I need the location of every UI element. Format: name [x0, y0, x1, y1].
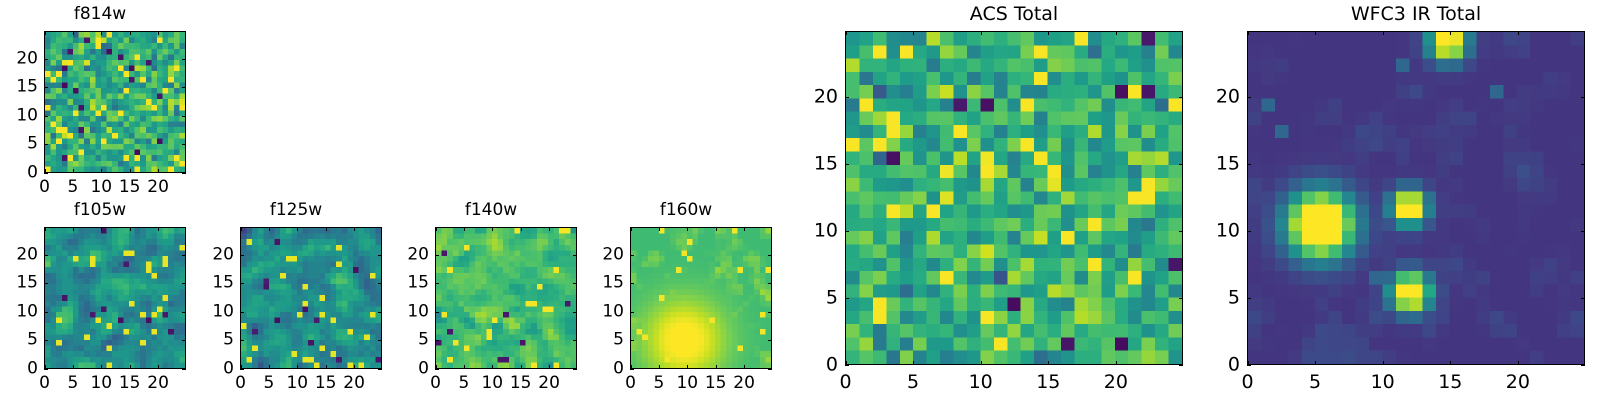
y-tick-mark-right: [1581, 231, 1585, 232]
x-tick-label: 20: [538, 375, 560, 392]
panel-wfc3-ir-total: WFC3 IR Total 0510152005101520: [1190, 0, 1600, 400]
x-tick-mark-top: [101, 31, 102, 35]
x-tick-mark: [716, 365, 717, 369]
x-tick-label: 15: [1036, 373, 1060, 392]
x-tick-mark: [297, 365, 298, 369]
y-tick-label: 20: [8, 50, 38, 67]
x-tick-label: 0: [839, 373, 851, 392]
x-tick-label: 10: [481, 375, 503, 392]
y-tick-label: 5: [8, 136, 38, 153]
figure-canvas: f814w 0510152005101520 f105w 05101520051…: [0, 0, 1600, 400]
x-tick-label: 20: [1104, 373, 1128, 392]
x-tick-mark-top: [492, 227, 493, 231]
y-tick-label: 0: [399, 360, 429, 377]
y-tick-mark-right: [1581, 298, 1585, 299]
x-tick-label: 20: [147, 179, 169, 196]
heatmap-f125w: [241, 228, 381, 368]
x-tick-mark: [130, 169, 131, 173]
x-tick-mark-top: [1383, 31, 1384, 35]
panel-f140w: f140w 0510152005101520: [391, 196, 591, 391]
y-tick-mark: [630, 255, 634, 256]
x-tick-label: 5: [1309, 373, 1321, 392]
x-tick-mark-top: [354, 227, 355, 231]
x-tick-mark-top: [1116, 31, 1117, 35]
x-tick-label: 5: [458, 375, 469, 392]
x-tick-label: 0: [1241, 373, 1253, 392]
y-tick-label: 10: [399, 303, 429, 320]
x-tick-mark-top: [549, 227, 550, 231]
y-tick-mark: [44, 87, 48, 88]
heatmap-wfc3-ir-total: [1248, 32, 1584, 364]
y-tick-mark: [845, 298, 849, 299]
y-tick-mark: [435, 369, 439, 370]
x-tick-label: 5: [263, 375, 274, 392]
x-tick-mark-top: [101, 227, 102, 231]
y-tick-label: 10: [594, 303, 624, 320]
y-tick-mark-right: [378, 369, 382, 370]
y-tick-label: 5: [1210, 288, 1240, 307]
panel-title-wfc3-ir-total: WFC3 IR Total: [1247, 5, 1585, 24]
y-tick-label: 0: [8, 360, 38, 377]
x-tick-mark-top: [716, 227, 717, 231]
x-tick-mark-top: [846, 31, 847, 35]
x-tick-mark: [492, 365, 493, 369]
y-tick-label: 20: [594, 246, 624, 263]
axes-wfc3-ir-total: [1247, 31, 1585, 365]
y-tick-mark-right: [573, 369, 577, 370]
panel-title-f105w: f105w: [0, 202, 200, 219]
x-tick-label: 5: [907, 373, 919, 392]
y-tick-mark: [44, 312, 48, 313]
x-tick-label: 0: [430, 375, 441, 392]
x-tick-label: 0: [625, 375, 636, 392]
y-tick-label: 20: [1210, 88, 1240, 107]
y-tick-mark: [630, 283, 634, 284]
x-tick-mark-top: [130, 31, 131, 35]
x-tick-label: 15: [1438, 373, 1462, 392]
heatmap-f105w: [45, 228, 185, 368]
y-tick-label: 15: [8, 79, 38, 96]
panel-f814w: f814w 0510152005101520: [0, 0, 200, 195]
y-tick-mark-right: [1179, 97, 1183, 98]
y-tick-mark: [44, 173, 48, 174]
x-tick-mark: [158, 365, 159, 369]
x-tick-mark: [354, 365, 355, 369]
y-tick-mark-right: [768, 369, 772, 370]
y-tick-label: 15: [204, 275, 234, 292]
y-tick-mark-right: [182, 144, 186, 145]
x-tick-mark: [73, 169, 74, 173]
x-tick-mark: [913, 361, 914, 365]
y-tick-label: 20: [204, 246, 234, 263]
x-tick-mark-top: [241, 227, 242, 231]
x-tick-label: 10: [90, 179, 112, 196]
y-tick-mark-right: [182, 312, 186, 313]
x-tick-mark: [73, 365, 74, 369]
y-tick-mark-right: [1179, 365, 1183, 366]
y-tick-mark-right: [182, 87, 186, 88]
y-tick-label: 20: [8, 246, 38, 263]
x-tick-label: 0: [235, 375, 246, 392]
x-tick-mark-top: [1248, 31, 1249, 35]
y-tick-label: 5: [8, 332, 38, 349]
y-tick-mark-right: [182, 173, 186, 174]
x-tick-label: 15: [119, 179, 141, 196]
x-tick-mark: [1315, 361, 1316, 365]
x-tick-label: 20: [733, 375, 755, 392]
y-tick-mark-right: [768, 283, 772, 284]
y-tick-mark-right: [378, 340, 382, 341]
y-tick-label: 5: [399, 332, 429, 349]
x-tick-mark: [521, 365, 522, 369]
x-tick-label: 10: [1371, 373, 1395, 392]
x-tick-mark-top: [73, 31, 74, 35]
x-tick-mark-top: [269, 227, 270, 231]
y-tick-mark-right: [182, 340, 186, 341]
x-tick-mark-top: [913, 31, 914, 35]
y-tick-mark-right: [573, 283, 577, 284]
y-tick-mark: [845, 365, 849, 366]
y-tick-label: 10: [808, 221, 838, 240]
y-tick-mark: [1247, 231, 1251, 232]
x-tick-mark: [130, 365, 131, 369]
x-tick-mark-top: [130, 227, 131, 231]
y-tick-mark-right: [768, 255, 772, 256]
x-tick-mark-top: [659, 227, 660, 231]
heatmap-f814w: [45, 32, 185, 172]
y-tick-label: 10: [8, 107, 38, 124]
x-tick-mark-top: [687, 227, 688, 231]
y-tick-label: 0: [594, 360, 624, 377]
y-tick-mark: [240, 255, 244, 256]
heatmap-f160w: [631, 228, 771, 368]
x-tick-mark-top: [1450, 31, 1451, 35]
x-tick-mark: [549, 365, 550, 369]
y-tick-mark: [44, 59, 48, 60]
x-tick-mark-top: [744, 227, 745, 231]
axes-f140w: [435, 227, 577, 369]
y-tick-label: 0: [204, 360, 234, 377]
y-tick-mark-right: [182, 59, 186, 60]
panel-f125w: f125w 0510152005101520: [196, 196, 396, 391]
x-tick-label: 20: [147, 375, 169, 392]
y-tick-mark: [630, 312, 634, 313]
y-tick-mark-right: [573, 255, 577, 256]
axes-acs-total: [845, 31, 1183, 365]
x-tick-mark: [158, 169, 159, 173]
y-tick-mark: [1247, 298, 1251, 299]
x-tick-mark-top: [326, 227, 327, 231]
y-tick-mark: [845, 97, 849, 98]
x-tick-mark-top: [521, 227, 522, 231]
y-tick-label: 10: [8, 303, 38, 320]
y-tick-label: 0: [808, 355, 838, 374]
y-tick-mark: [630, 369, 634, 370]
y-tick-mark: [44, 369, 48, 370]
x-tick-label: 5: [653, 375, 664, 392]
y-tick-mark: [435, 255, 439, 256]
panel-title-acs-total: ACS Total: [845, 5, 1183, 24]
x-tick-mark-top: [297, 227, 298, 231]
y-tick-label: 15: [594, 275, 624, 292]
panel-acs-total: ACS Total 0510152005101520: [790, 0, 1190, 400]
x-tick-label: 15: [119, 375, 141, 392]
x-tick-mark-top: [158, 227, 159, 231]
y-tick-mark-right: [1581, 164, 1585, 165]
x-tick-mark-top: [436, 227, 437, 231]
y-tick-mark: [44, 340, 48, 341]
x-tick-mark-top: [45, 227, 46, 231]
x-tick-mark-top: [1315, 31, 1316, 35]
y-tick-mark-right: [1179, 231, 1183, 232]
x-tick-mark-top: [73, 227, 74, 231]
x-tick-label: 15: [510, 375, 532, 392]
x-tick-mark: [101, 169, 102, 173]
panel-title-f140w: f140w: [391, 202, 591, 219]
panel-title-f160w: f160w: [586, 202, 786, 219]
axes-f105w: [44, 227, 186, 369]
x-tick-label: 5: [67, 375, 78, 392]
y-tick-mark: [240, 340, 244, 341]
panel-title-f814w: f814w: [0, 6, 200, 23]
y-tick-mark-right: [378, 283, 382, 284]
y-tick-mark: [435, 312, 439, 313]
x-tick-mark: [744, 365, 745, 369]
x-tick-mark-top: [464, 227, 465, 231]
y-tick-mark: [435, 283, 439, 284]
y-tick-label: 0: [1210, 355, 1240, 374]
y-tick-label: 0: [8, 164, 38, 181]
y-tick-label: 15: [399, 275, 429, 292]
y-tick-mark: [240, 283, 244, 284]
y-tick-mark-right: [1179, 164, 1183, 165]
panel-f105w: f105w 0510152005101520: [0, 196, 200, 391]
panel-f160w: f160w 0510152005101520: [586, 196, 786, 391]
y-tick-label: 15: [8, 275, 38, 292]
y-tick-mark: [240, 312, 244, 313]
x-tick-label: 0: [39, 375, 50, 392]
y-tick-mark: [630, 340, 634, 341]
x-tick-mark: [659, 365, 660, 369]
x-tick-mark-top: [981, 31, 982, 35]
x-tick-mark-top: [1048, 31, 1049, 35]
y-tick-label: 5: [594, 332, 624, 349]
y-tick-label: 5: [808, 288, 838, 307]
x-tick-label: 20: [343, 375, 365, 392]
axes-f814w: [44, 31, 186, 173]
y-tick-mark: [44, 255, 48, 256]
x-tick-mark: [1116, 361, 1117, 365]
x-tick-mark: [1048, 361, 1049, 365]
y-tick-label: 10: [1210, 221, 1240, 240]
x-tick-label: 10: [90, 375, 112, 392]
x-tick-mark: [1450, 361, 1451, 365]
panel-title-f125w: f125w: [196, 202, 396, 219]
heatmap-acs-total: [846, 32, 1182, 364]
x-tick-mark-top: [158, 31, 159, 35]
x-tick-mark: [687, 365, 688, 369]
x-tick-mark-top: [631, 227, 632, 231]
y-tick-mark-right: [182, 369, 186, 370]
x-tick-label: 5: [67, 179, 78, 196]
y-tick-mark-right: [182, 255, 186, 256]
x-tick-mark: [269, 365, 270, 369]
x-tick-label: 10: [969, 373, 993, 392]
y-tick-mark-right: [378, 312, 382, 313]
y-tick-mark-right: [768, 312, 772, 313]
x-tick-label: 0: [39, 179, 50, 196]
x-tick-mark: [464, 365, 465, 369]
y-tick-mark-right: [1581, 365, 1585, 366]
x-tick-mark-top: [1518, 31, 1519, 35]
x-tick-mark: [981, 361, 982, 365]
x-tick-label: 10: [676, 375, 698, 392]
y-tick-mark: [44, 144, 48, 145]
y-tick-mark-right: [1581, 97, 1585, 98]
y-tick-label: 20: [808, 88, 838, 107]
x-tick-mark: [1383, 361, 1384, 365]
y-tick-label: 15: [1210, 155, 1240, 174]
y-tick-mark: [1247, 97, 1251, 98]
x-tick-label: 20: [1506, 373, 1530, 392]
y-tick-mark-right: [182, 116, 186, 117]
y-tick-label: 10: [204, 303, 234, 320]
y-tick-mark: [44, 283, 48, 284]
axes-f160w: [630, 227, 772, 369]
y-tick-mark: [435, 340, 439, 341]
y-tick-mark-right: [573, 312, 577, 313]
y-tick-mark-right: [182, 283, 186, 284]
y-tick-mark: [240, 369, 244, 370]
y-tick-mark: [44, 116, 48, 117]
y-tick-mark: [1247, 164, 1251, 165]
x-tick-mark-top: [45, 31, 46, 35]
y-tick-mark-right: [573, 340, 577, 341]
x-tick-label: 10: [286, 375, 308, 392]
y-tick-mark-right: [1179, 298, 1183, 299]
y-tick-mark: [1247, 365, 1251, 366]
y-tick-label: 5: [204, 332, 234, 349]
x-tick-mark: [101, 365, 102, 369]
y-tick-mark: [845, 164, 849, 165]
y-tick-label: 15: [808, 155, 838, 174]
heatmap-f140w: [436, 228, 576, 368]
y-tick-label: 20: [399, 246, 429, 263]
axes-f125w: [240, 227, 382, 369]
y-tick-mark-right: [768, 340, 772, 341]
y-tick-mark: [845, 231, 849, 232]
y-tick-mark-right: [378, 255, 382, 256]
x-tick-mark: [1518, 361, 1519, 365]
x-tick-label: 15: [705, 375, 727, 392]
x-tick-label: 15: [315, 375, 337, 392]
x-tick-mark: [326, 365, 327, 369]
